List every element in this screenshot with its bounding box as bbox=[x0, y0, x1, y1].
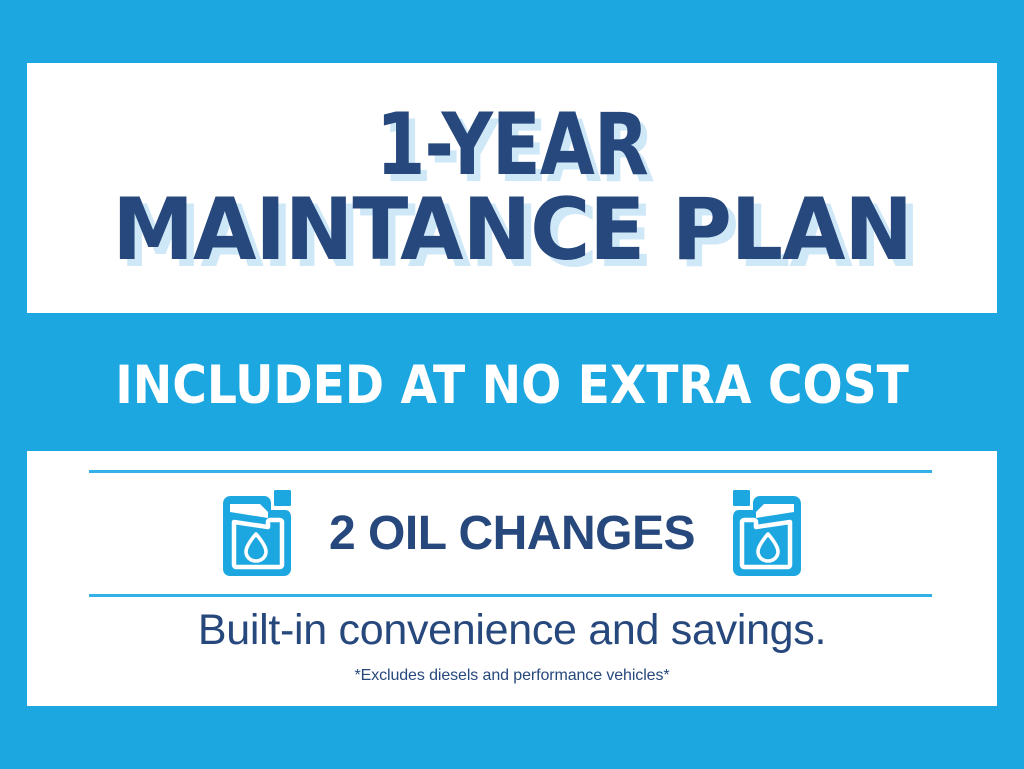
benefit-row: 2 OIL CHANGES bbox=[27, 479, 997, 587]
details-panel: 2 OIL CHANGES Built-in convenience and s… bbox=[27, 451, 997, 706]
divider-top bbox=[89, 470, 932, 473]
headline-line-1: 1-YEAR bbox=[376, 106, 648, 185]
subheading: INCLUDED AT NO EXTRA COST bbox=[32, 330, 992, 440]
oil-jug-icon bbox=[215, 488, 293, 578]
headline-panel: 1-YEAR MAINTANCE PLAN bbox=[27, 63, 997, 313]
oil-jug-icon bbox=[731, 488, 809, 578]
benefit-label: 2 OIL CHANGES bbox=[329, 506, 695, 561]
headline-line-2: MAINTANCE PLAN bbox=[112, 191, 912, 270]
tagline: Built-in convenience and savings. bbox=[27, 606, 997, 655]
maintenance-plan-poster: 1-YEAR MAINTANCE PLAN INCLUDED AT NO EXT… bbox=[0, 0, 1024, 769]
disclaimer: *Excludes diesels and performance vehicl… bbox=[27, 667, 997, 685]
divider-bottom bbox=[89, 594, 932, 597]
